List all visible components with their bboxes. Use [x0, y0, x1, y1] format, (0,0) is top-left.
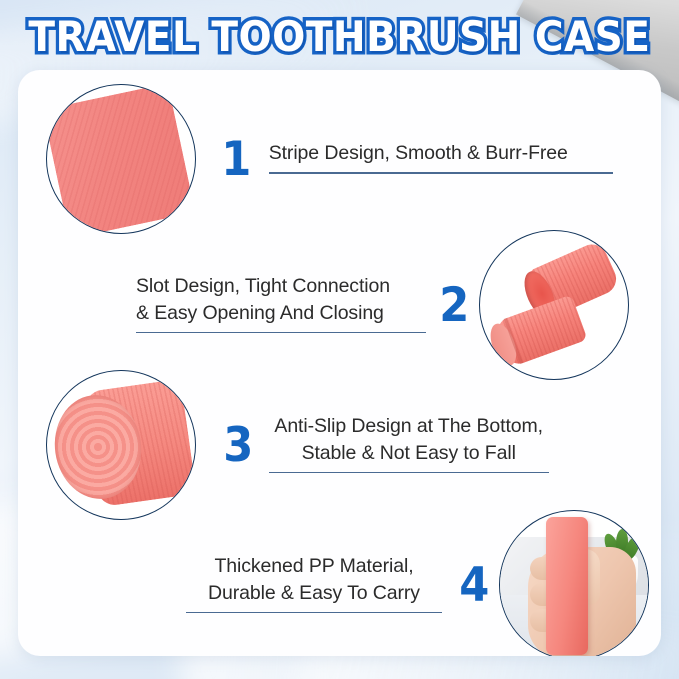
product-infographic: TRAVEL TOOTHBRUSH CASE 1 Stripe Design, … [0, 0, 679, 679]
feature-image-2 [479, 230, 629, 380]
page-title-text: TRAVEL TOOTHBRUSH CASE [28, 12, 650, 62]
page-title: TRAVEL TOOTHBRUSH CASE [0, 12, 679, 64]
feature-number-4: 4 [459, 562, 489, 609]
feature-text-3: Anti-Slip Design at The Bottom, Stable &… [269, 413, 549, 478]
feature-text-4: Thickened PP Material, Durable & Easy To… [186, 553, 442, 618]
feature-text-line: Slot Design, Tight Connection [136, 273, 426, 300]
feature-row-3: 3 Anti-Slip Design at The Bottom, Stable… [46, 370, 549, 520]
case-cap-lower [494, 294, 587, 367]
feature-text-1: Stripe Design, Smooth & Burr-Free [269, 140, 613, 178]
feature-underline [269, 472, 549, 474]
feature-row-4: Thickened PP Material, Durable & Easy To… [186, 510, 649, 656]
feature-image-4 [499, 510, 649, 656]
feature-text-line: Stable & Not Easy to Fall [269, 440, 549, 467]
feature-image-1 [46, 84, 196, 234]
feature-text-line: Thickened PP Material, [186, 553, 442, 580]
feature-text-line: & Easy Opening And Closing [136, 300, 426, 327]
feature-number-3: 3 [223, 422, 253, 469]
feature-underline [269, 172, 613, 174]
feature-number-1: 1 [221, 136, 251, 183]
feature-row-1: 1 Stripe Design, Smooth & Burr-Free [46, 84, 613, 234]
feature-text-line: Stripe Design, Smooth & Burr-Free [269, 140, 613, 167]
feature-underline [136, 332, 426, 334]
ribbed-case-body-shape [46, 84, 195, 234]
feature-text-line: Anti-Slip Design at The Bottom, [269, 413, 549, 440]
feature-number-2: 2 [439, 282, 469, 329]
feature-text-line: Durable & Easy To Carry [186, 580, 442, 607]
feature-text-2: Slot Design, Tight Connection & Easy Ope… [136, 273, 426, 338]
toothbrush-case-held [546, 517, 588, 655]
feature-underline [186, 612, 442, 614]
feature-image-3 [46, 370, 196, 520]
feature-row-2: Slot Design, Tight Connection & Easy Ope… [136, 230, 629, 380]
features-card: 1 Stripe Design, Smooth & Burr-Free Slot… [18, 70, 661, 656]
